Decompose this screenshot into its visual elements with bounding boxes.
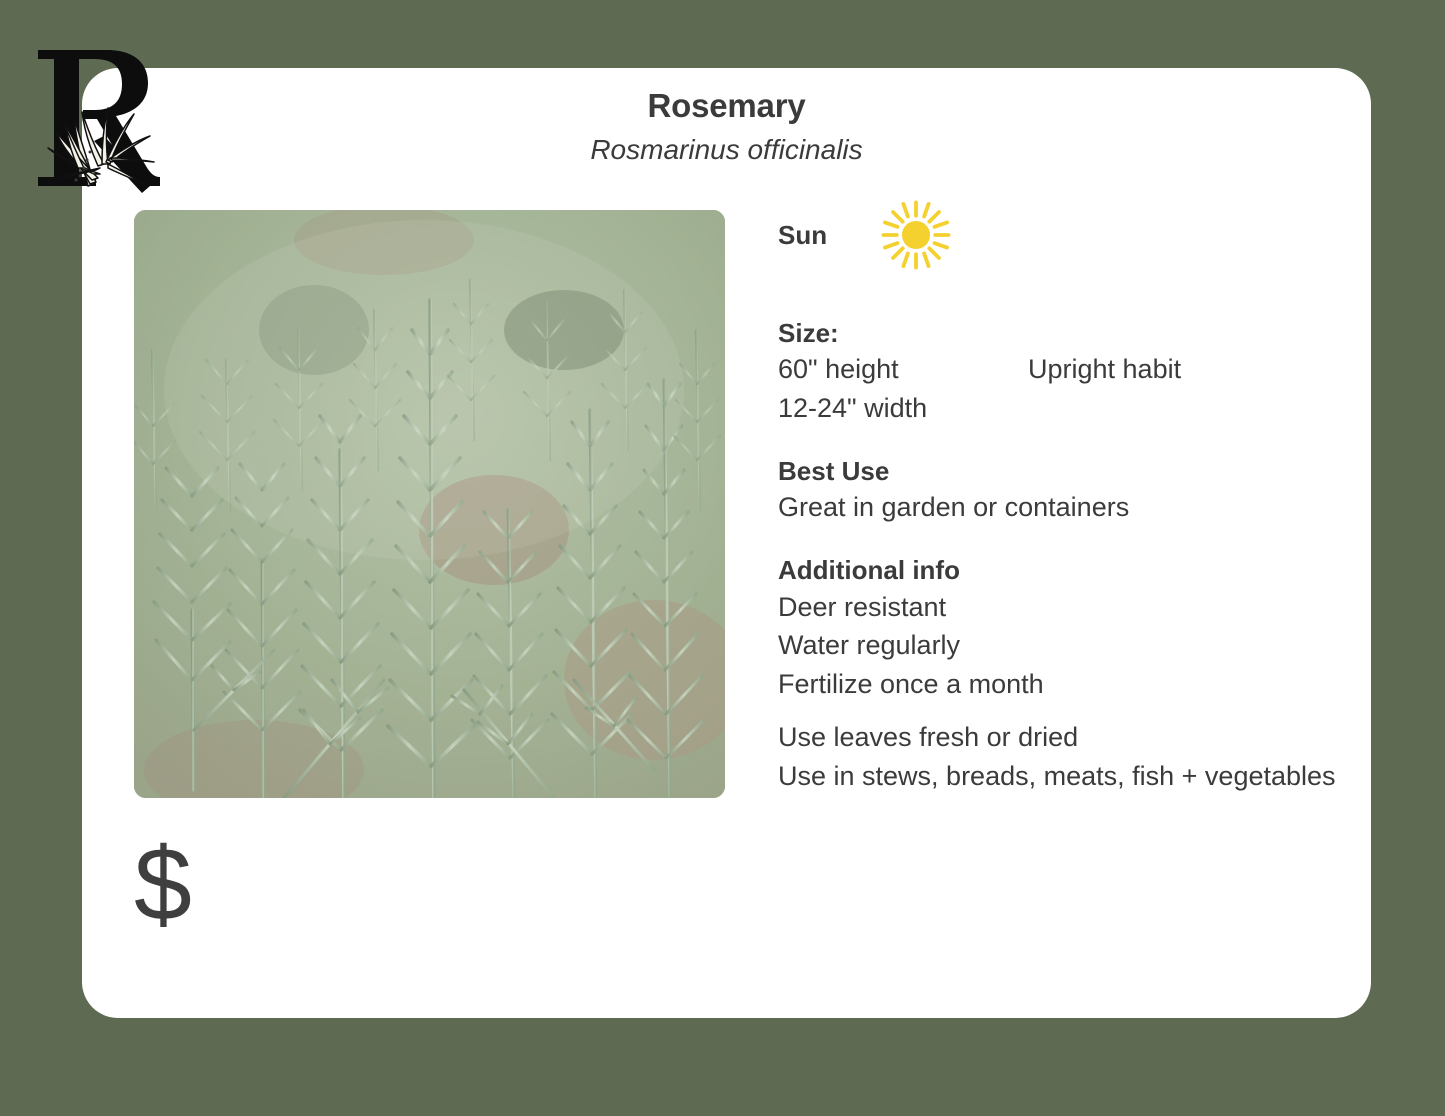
usage-line: Use leaves fresh or dried (778, 718, 1338, 757)
size-height: 60" height (778, 350, 1028, 389)
additional-info-block: Additional info Deer resistant Water reg… (778, 553, 1338, 796)
size-detail-row: 60" height 12-24" width Upright habit (778, 350, 1338, 428)
size-dimensions: 60" height 12-24" width (778, 350, 1028, 428)
plant-info-card: Rosemary Rosmarinus officinalis (82, 68, 1371, 1018)
plant-latin-name: Rosmarinus officinalis (82, 135, 1371, 166)
sun-requirement-row: Sun (778, 198, 1338, 272)
size-heading: Size: (778, 316, 1338, 350)
best-use-heading: Best Use (778, 454, 1338, 488)
additional-info-heading: Additional info (778, 553, 1338, 587)
plant-info-panel: Sun (778, 198, 1338, 796)
sun-icon (879, 198, 953, 272)
additional-info-line: Water regularly (778, 626, 1338, 665)
price-symbol: $ (134, 833, 192, 937)
card-header: Rosemary Rosmarinus officinalis (82, 88, 1371, 166)
spacer (778, 704, 1338, 718)
size-habit-col: Upright habit (1028, 350, 1338, 428)
usage-line: Use in stews, breads, meats, fish + vege… (778, 757, 1338, 796)
size-block: Size: 60" height 12-24" width Upright ha… (778, 316, 1338, 428)
page-title: Rosemary (82, 88, 1371, 124)
additional-info-line: Fertilize once a month (778, 665, 1338, 704)
plant-photo-image (134, 210, 725, 798)
size-habit: Upright habit (1028, 350, 1338, 389)
additional-info-line: Deer resistant (778, 588, 1338, 627)
plant-photo (134, 210, 725, 798)
best-use-block: Best Use Great in garden or containers (778, 454, 1338, 527)
best-use-text: Great in garden or containers (778, 488, 1338, 527)
sun-label: Sun (778, 218, 827, 252)
size-width: 12-24" width (778, 389, 1028, 428)
